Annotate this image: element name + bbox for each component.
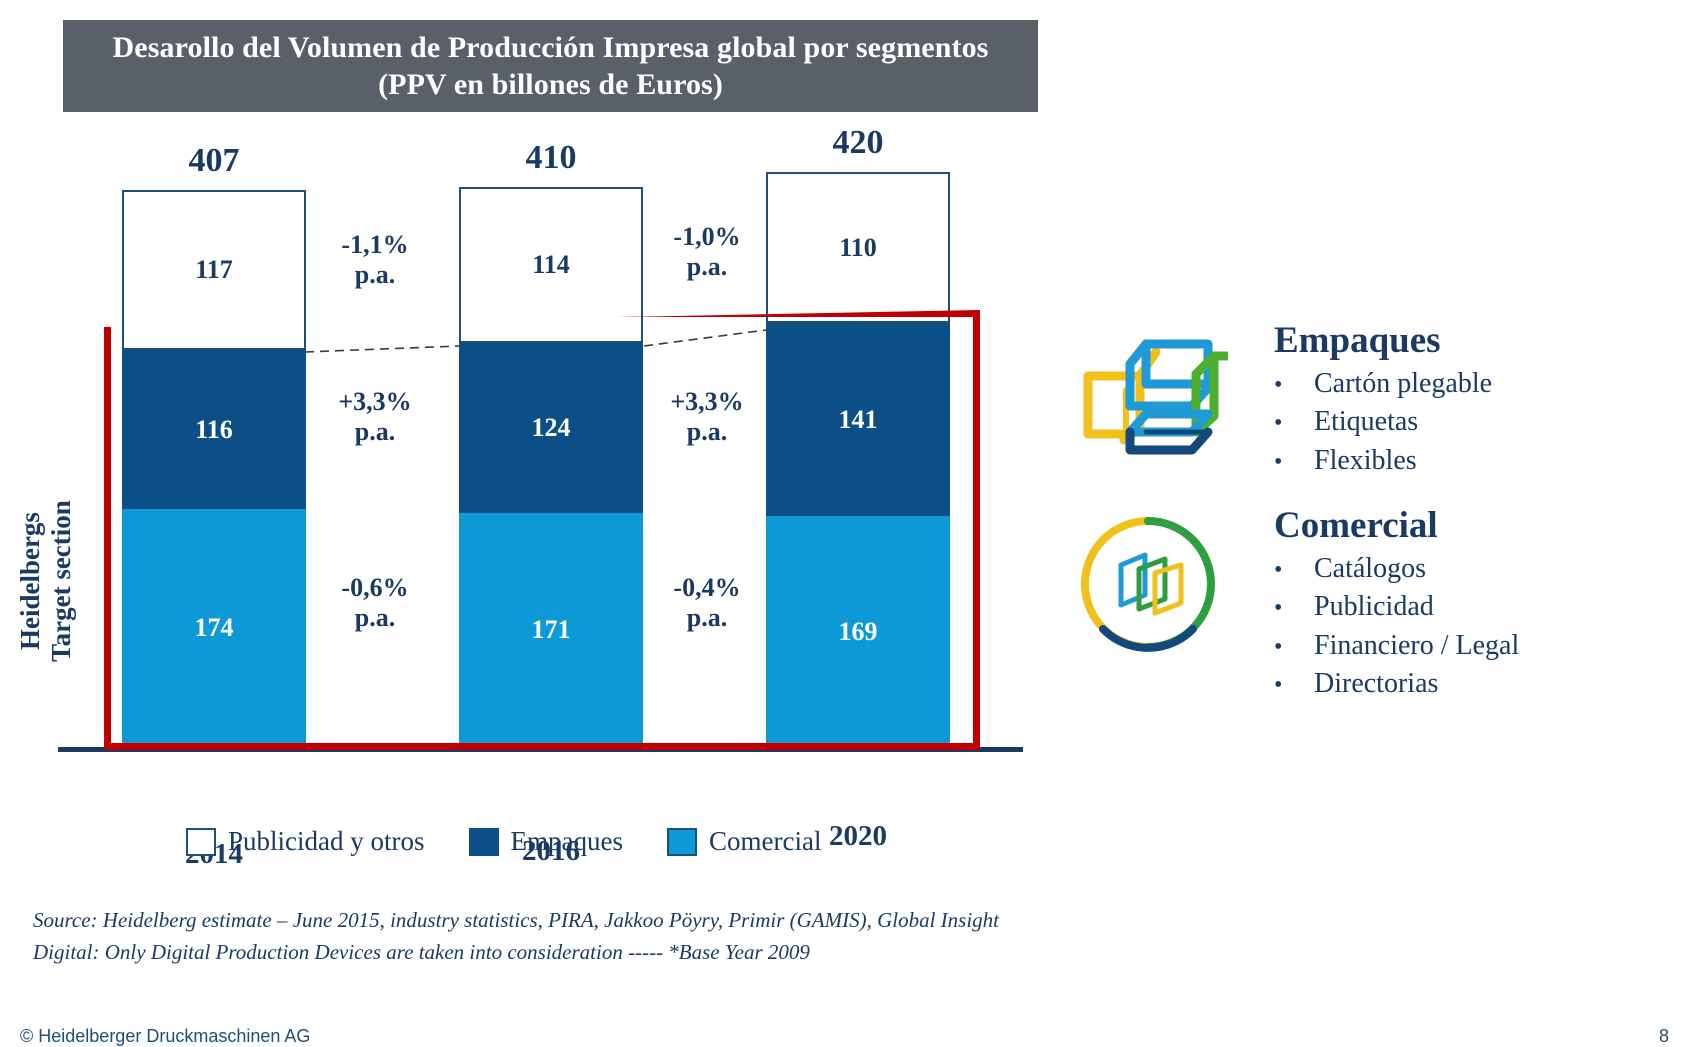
bar-segment-publicidad-2016[interactable]: 114 [459, 187, 643, 343]
bar-group-2016[interactable]: 410 114 124 171 2016 [459, 187, 643, 747]
bullet-label: Financiero / Legal [1314, 627, 1519, 666]
bar-value-label: 169 [839, 617, 878, 647]
legend-item-empaques[interactable]: Empaques [469, 826, 623, 857]
legend-item-comercial[interactable]: Comercial [667, 826, 821, 857]
bar-segment-comercial-2016[interactable]: 171 [459, 513, 643, 747]
bar-value-label: 171 [532, 615, 571, 645]
packaging-boxes-icon [1068, 328, 1228, 483]
bar-group-2014[interactable]: 407 117 116 174 2014 [122, 190, 306, 747]
legend-label: Comercial [709, 826, 821, 857]
segment-descriptions-panel: Empaques • Cartón plegable • Etiquetas •… [1048, 322, 1678, 704]
chart-baseline-axis [58, 747, 1023, 752]
bullet-item-etiquetas: • Etiquetas [1274, 403, 1678, 442]
bullet-label: Flexibles [1314, 442, 1417, 481]
segment-text-column: Empaques • Cartón plegable • Etiquetas •… [1274, 322, 1678, 704]
cagr-comercial-2016-2020: -0,4% p.a. [642, 573, 772, 633]
bullet-dot-icon: • [1274, 369, 1314, 402]
bar-value-label: 174 [195, 613, 234, 643]
bar-series-container: 407 117 116 174 2014 410 114 124 171 [58, 115, 1023, 747]
bullet-label: Publicidad [1314, 588, 1434, 627]
bar-value-label: 114 [532, 250, 570, 280]
bullet-item-publicidad: • Publicidad [1274, 588, 1678, 627]
source-footnotes: Source: Heidelberg estimate – June 2015,… [33, 905, 999, 968]
bullet-item-carton-plegable: • Cartón plegable [1274, 365, 1678, 404]
copyright-notice: © Heidelberger Druckmaschinen AG [20, 1026, 310, 1047]
bar-total-2020: 420 [766, 124, 950, 162]
legend-swatch-icon [186, 828, 216, 856]
bullet-item-directorias: • Directorias [1274, 665, 1678, 704]
footnote-line-1: Source: Heidelberg estimate – June 2015,… [33, 905, 999, 937]
cagr-publicidad-2014-2016: -1,1% p.a. [310, 230, 440, 290]
bar-segment-comercial-2020[interactable]: 169 [766, 516, 950, 747]
bar-value-label: 117 [195, 255, 233, 285]
commercial-print-circle-icon [1073, 509, 1223, 664]
bar-total-2016: 410 [459, 139, 643, 177]
bar-value-label: 141 [839, 405, 878, 435]
bar-value-label: 116 [195, 415, 233, 445]
footnote-line-2: Digital: Only Digital Production Devices… [33, 937, 999, 969]
bar-segment-empaques-2014[interactable]: 116 [122, 350, 306, 509]
bar-value-label: 124 [532, 413, 571, 443]
cagr-empaques-2014-2016: +3,3% p.a. [310, 387, 440, 447]
bar-segment-publicidad-2014[interactable]: 117 [122, 190, 306, 350]
legend-swatch-icon [469, 828, 499, 856]
legend-label: Publicidad y otros [228, 826, 425, 857]
legend-swatch-icon [667, 828, 697, 856]
chart-legend: Publicidad y otros Empaques Comercial [186, 826, 821, 857]
bar-value-label: 110 [839, 233, 877, 263]
bar-segment-publicidad-2020[interactable]: 110 [766, 172, 950, 323]
legend-label: Empaques [511, 826, 623, 857]
bullet-dot-icon: • [1274, 554, 1314, 587]
legend-item-publicidad[interactable]: Publicidad y otros [186, 826, 425, 857]
bar-segment-empaques-2020[interactable]: 141 [766, 323, 950, 516]
bar-group-2020[interactable]: 420 110 141 169 2020 [766, 172, 950, 747]
bullet-dot-icon: • [1274, 631, 1314, 664]
segment-icons-column [1048, 322, 1248, 704]
bullet-dot-icon: • [1274, 592, 1314, 625]
section-heading-comercial: Comercial [1274, 507, 1678, 546]
bullet-label: Directorias [1314, 665, 1438, 704]
bar-segment-empaques-2016[interactable]: 124 [459, 343, 643, 513]
cagr-comercial-2014-2016: -0,6% p.a. [310, 573, 440, 633]
bullet-dot-icon: • [1274, 446, 1314, 479]
bullet-item-flexibles: • Flexibles [1274, 442, 1678, 481]
bullet-label: Cartón plegable [1314, 365, 1492, 404]
bullet-label: Catálogos [1314, 550, 1426, 589]
bullet-item-financiero-legal: • Financiero / Legal [1274, 627, 1678, 666]
slide-title-banner: Desarollo del Volumen de Producción Impr… [63, 20, 1038, 112]
cagr-empaques-2016-2020: +3,3% p.a. [642, 387, 772, 447]
bullet-label: Etiquetas [1314, 403, 1418, 442]
bullet-item-catalogos: • Catálogos [1274, 550, 1678, 589]
page-number: 8 [1659, 1026, 1669, 1047]
bar-total-2014: 407 [122, 142, 306, 180]
bullet-dot-icon: • [1274, 407, 1314, 440]
cagr-publicidad-2016-2020: -1,0% p.a. [642, 222, 772, 282]
page-title: Desarollo del Volumen de Producción Impr… [103, 29, 998, 104]
bar-segment-comercial-2014[interactable]: 174 [122, 509, 306, 747]
bullet-dot-icon: • [1274, 669, 1314, 702]
vertical-axis-label-line1: Heidelbergs [15, 512, 45, 650]
section-heading-empaques: Empaques [1274, 322, 1678, 361]
stacked-bar-chart: Heidelbergs Target section 407 117 116 1… [0, 115, 1045, 905]
